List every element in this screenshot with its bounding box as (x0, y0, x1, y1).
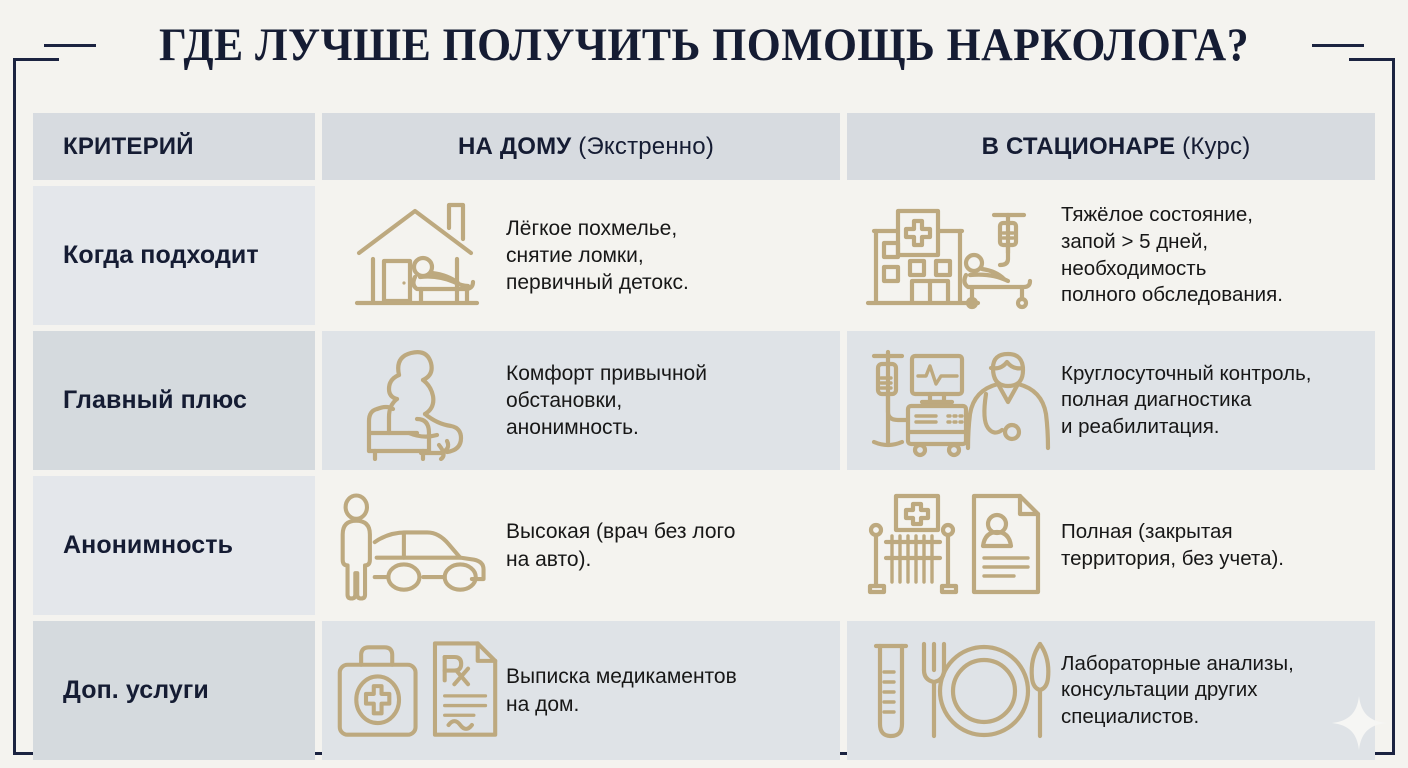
person-relaxing-in-armchair-icon (332, 341, 502, 461)
row-criterion-cell: Когда подходит (33, 186, 315, 325)
first-aid-kit-and-prescription-icon (332, 631, 502, 751)
header-label-at-home: НА ДОМУ (Экстренно) (458, 133, 714, 161)
table-header-row: КРИТЕРИЙ НА ДОМУ (Экстренно) В СТАЦИОНАР… (33, 113, 1375, 180)
row-hospital-cell: Полная (закрытая территория, без учета). (847, 476, 1375, 615)
row-hospital-cell: Лабораторные анализы, консультации други… (847, 621, 1375, 760)
hospital-description: Полная (закрытая территория, без учета). (1057, 519, 1284, 572)
criterion-label: Когда подходит (33, 241, 259, 270)
person-beside-car-icon (332, 486, 502, 606)
test-tube-and-meal-plate-icon (857, 631, 1057, 751)
table-row: Доп. услуги (33, 621, 1375, 760)
title-rule-left (44, 44, 96, 47)
at-home-description: Высокая (врач без лого на авто). (502, 518, 735, 573)
criterion-label: Главный плюс (33, 386, 247, 415)
row-hospital-cell: Тяжёлое состояние, запой > 5 дней, необх… (847, 186, 1375, 325)
iv-drip-monitor-doctor-icon (857, 341, 1057, 461)
row-criterion-cell: Главный плюс (33, 331, 315, 470)
header-label-hospital: В СТАЦИОНАРЕ (Курс) (982, 133, 1251, 161)
criterion-label: Анонимность (33, 531, 233, 560)
row-at-home-cell: Комфорт привычной обстановки, анонимност… (322, 331, 840, 470)
header-cell-hospital: В СТАЦИОНАРЕ (Курс) (847, 113, 1375, 180)
comparison-table: КРИТЕРИЙ НА ДОМУ (Экстренно) В СТАЦИОНАР… (33, 113, 1375, 760)
row-at-home-cell: Высокая (врач без лого на авто). (322, 476, 840, 615)
at-home-description: Комфорт привычной обстановки, анонимност… (502, 360, 707, 442)
house-with-patient-in-bed-icon (332, 196, 502, 316)
header-cell-at-home: НА ДОМУ (Экстренно) (322, 113, 840, 180)
hospital-description: Лабораторные анализы, консультации други… (1057, 651, 1294, 731)
header-label-criterion: КРИТЕРИЙ (63, 133, 194, 161)
hospital-description: Круглосуточный контроль, полная диагност… (1057, 361, 1311, 441)
criterion-label: Доп. услуги (33, 676, 209, 705)
header-cell-criterion: КРИТЕРИЙ (33, 113, 315, 180)
table-row: Анонимность Высокая (33, 476, 1375, 615)
page-title: ГДЕ ЛУЧШЕ ПОЛУЧИТЬ ПОМОЩЬ НАРКОЛОГА? (159, 22, 1249, 69)
hospital-building-with-patient-bed-iv-icon (857, 196, 1057, 316)
header-label-hospital-main: В СТАЦИОНАРЕ (982, 133, 1176, 160)
title-rule-right (1312, 44, 1364, 47)
hospital-description: Тяжёлое состояние, запой > 5 дней, необх… (1057, 202, 1283, 309)
header-label-at-home-main: НА ДОМУ (458, 133, 571, 160)
table-row: Главный плюс (33, 331, 1375, 470)
at-home-description: Лёгкое похмелье, снятие ломки, первичный… (502, 215, 689, 297)
row-criterion-cell: Доп. услуги (33, 621, 315, 760)
infographic-page: ГДЕ ЛУЧШЕ ПОЛУЧИТЬ ПОМОЩЬ НАРКОЛОГА? КРИ… (0, 0, 1408, 768)
title-block: ГДЕ ЛУЧШЕ ПОЛУЧИТЬ ПОМОЩЬ НАРКОЛОГА? (0, 22, 1408, 69)
fenced-clinic-and-patient-file-icon (857, 486, 1057, 606)
header-label-hospital-sub: (Курс) (1175, 133, 1250, 160)
row-hospital-cell: Круглосуточный контроль, полная диагност… (847, 331, 1375, 470)
table-row: Когда подходит (33, 186, 1375, 325)
row-criterion-cell: Анонимность (33, 476, 315, 615)
header-label-at-home-sub: (Экстренно) (571, 133, 714, 160)
row-at-home-cell: Лёгкое похмелье, снятие ломки, первичный… (322, 186, 840, 325)
row-at-home-cell: Выписка медикаментов на дом. (322, 621, 840, 760)
at-home-description: Выписка медикаментов на дом. (502, 663, 737, 718)
